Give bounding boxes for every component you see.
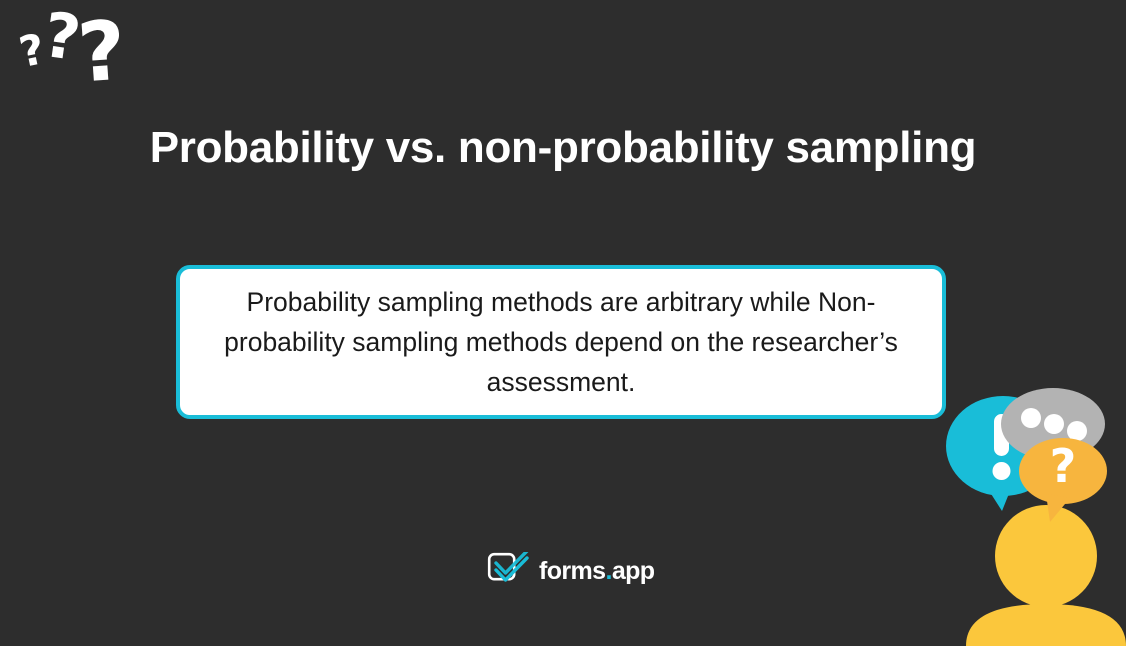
forms-app-logo-mark-icon: [487, 552, 533, 590]
person-head-icon: [995, 505, 1097, 607]
exclamation-bubble-body: [946, 396, 1060, 496]
speech-bubble-illustration: ?: [936, 376, 1126, 646]
question-mark-icon-small: ?: [16, 28, 49, 74]
ellipsis-bubble: [1001, 388, 1105, 480]
page-title: Probability vs. non-probability sampling: [0, 123, 1126, 173]
question-bubble-body: [1019, 438, 1107, 504]
logo-word-app: app: [612, 557, 655, 585]
exclamation-mark-dot-icon: [993, 462, 1011, 480]
question-bubble: ?: [1019, 438, 1107, 522]
exclamation-bubble: [946, 396, 1060, 511]
question-mark-decoration-group: ? ? ?: [0, 0, 160, 120]
ellipsis-dot-3-icon: [1067, 421, 1087, 441]
illustration-svg: ?: [936, 376, 1126, 646]
slide-canvas: ? ? ? Probability vs. non-probability sa…: [0, 0, 1126, 646]
ellipsis-dot-1-icon: [1021, 408, 1041, 428]
logo-word-forms: forms: [539, 557, 605, 585]
question-mark-icon-large: ?: [75, 10, 128, 95]
exclamation-mark-stem-icon: [994, 414, 1009, 456]
ellipsis-bubble-tail: [1028, 450, 1054, 480]
ellipsis-dot-2-icon: [1044, 414, 1064, 434]
person-shoulders-icon: [966, 604, 1126, 646]
statement-card: Probability sampling methods are arbitra…: [176, 265, 946, 419]
question-mark-icon-medium: ?: [40, 4, 84, 70]
exclamation-bubble-tail: [986, 486, 1012, 511]
question-bubble-tail: [1046, 494, 1070, 522]
ellipsis-bubble-body: [1001, 388, 1105, 460]
logo-wordmark: forms.app: [539, 557, 654, 586]
statement-card-text: Probability sampling methods are arbitra…: [180, 282, 942, 402]
person-avatar: [966, 505, 1126, 646]
question-mark-glyph-icon: ?: [1050, 439, 1077, 493]
forms-app-logo[interactable]: forms.app: [487, 550, 647, 592]
